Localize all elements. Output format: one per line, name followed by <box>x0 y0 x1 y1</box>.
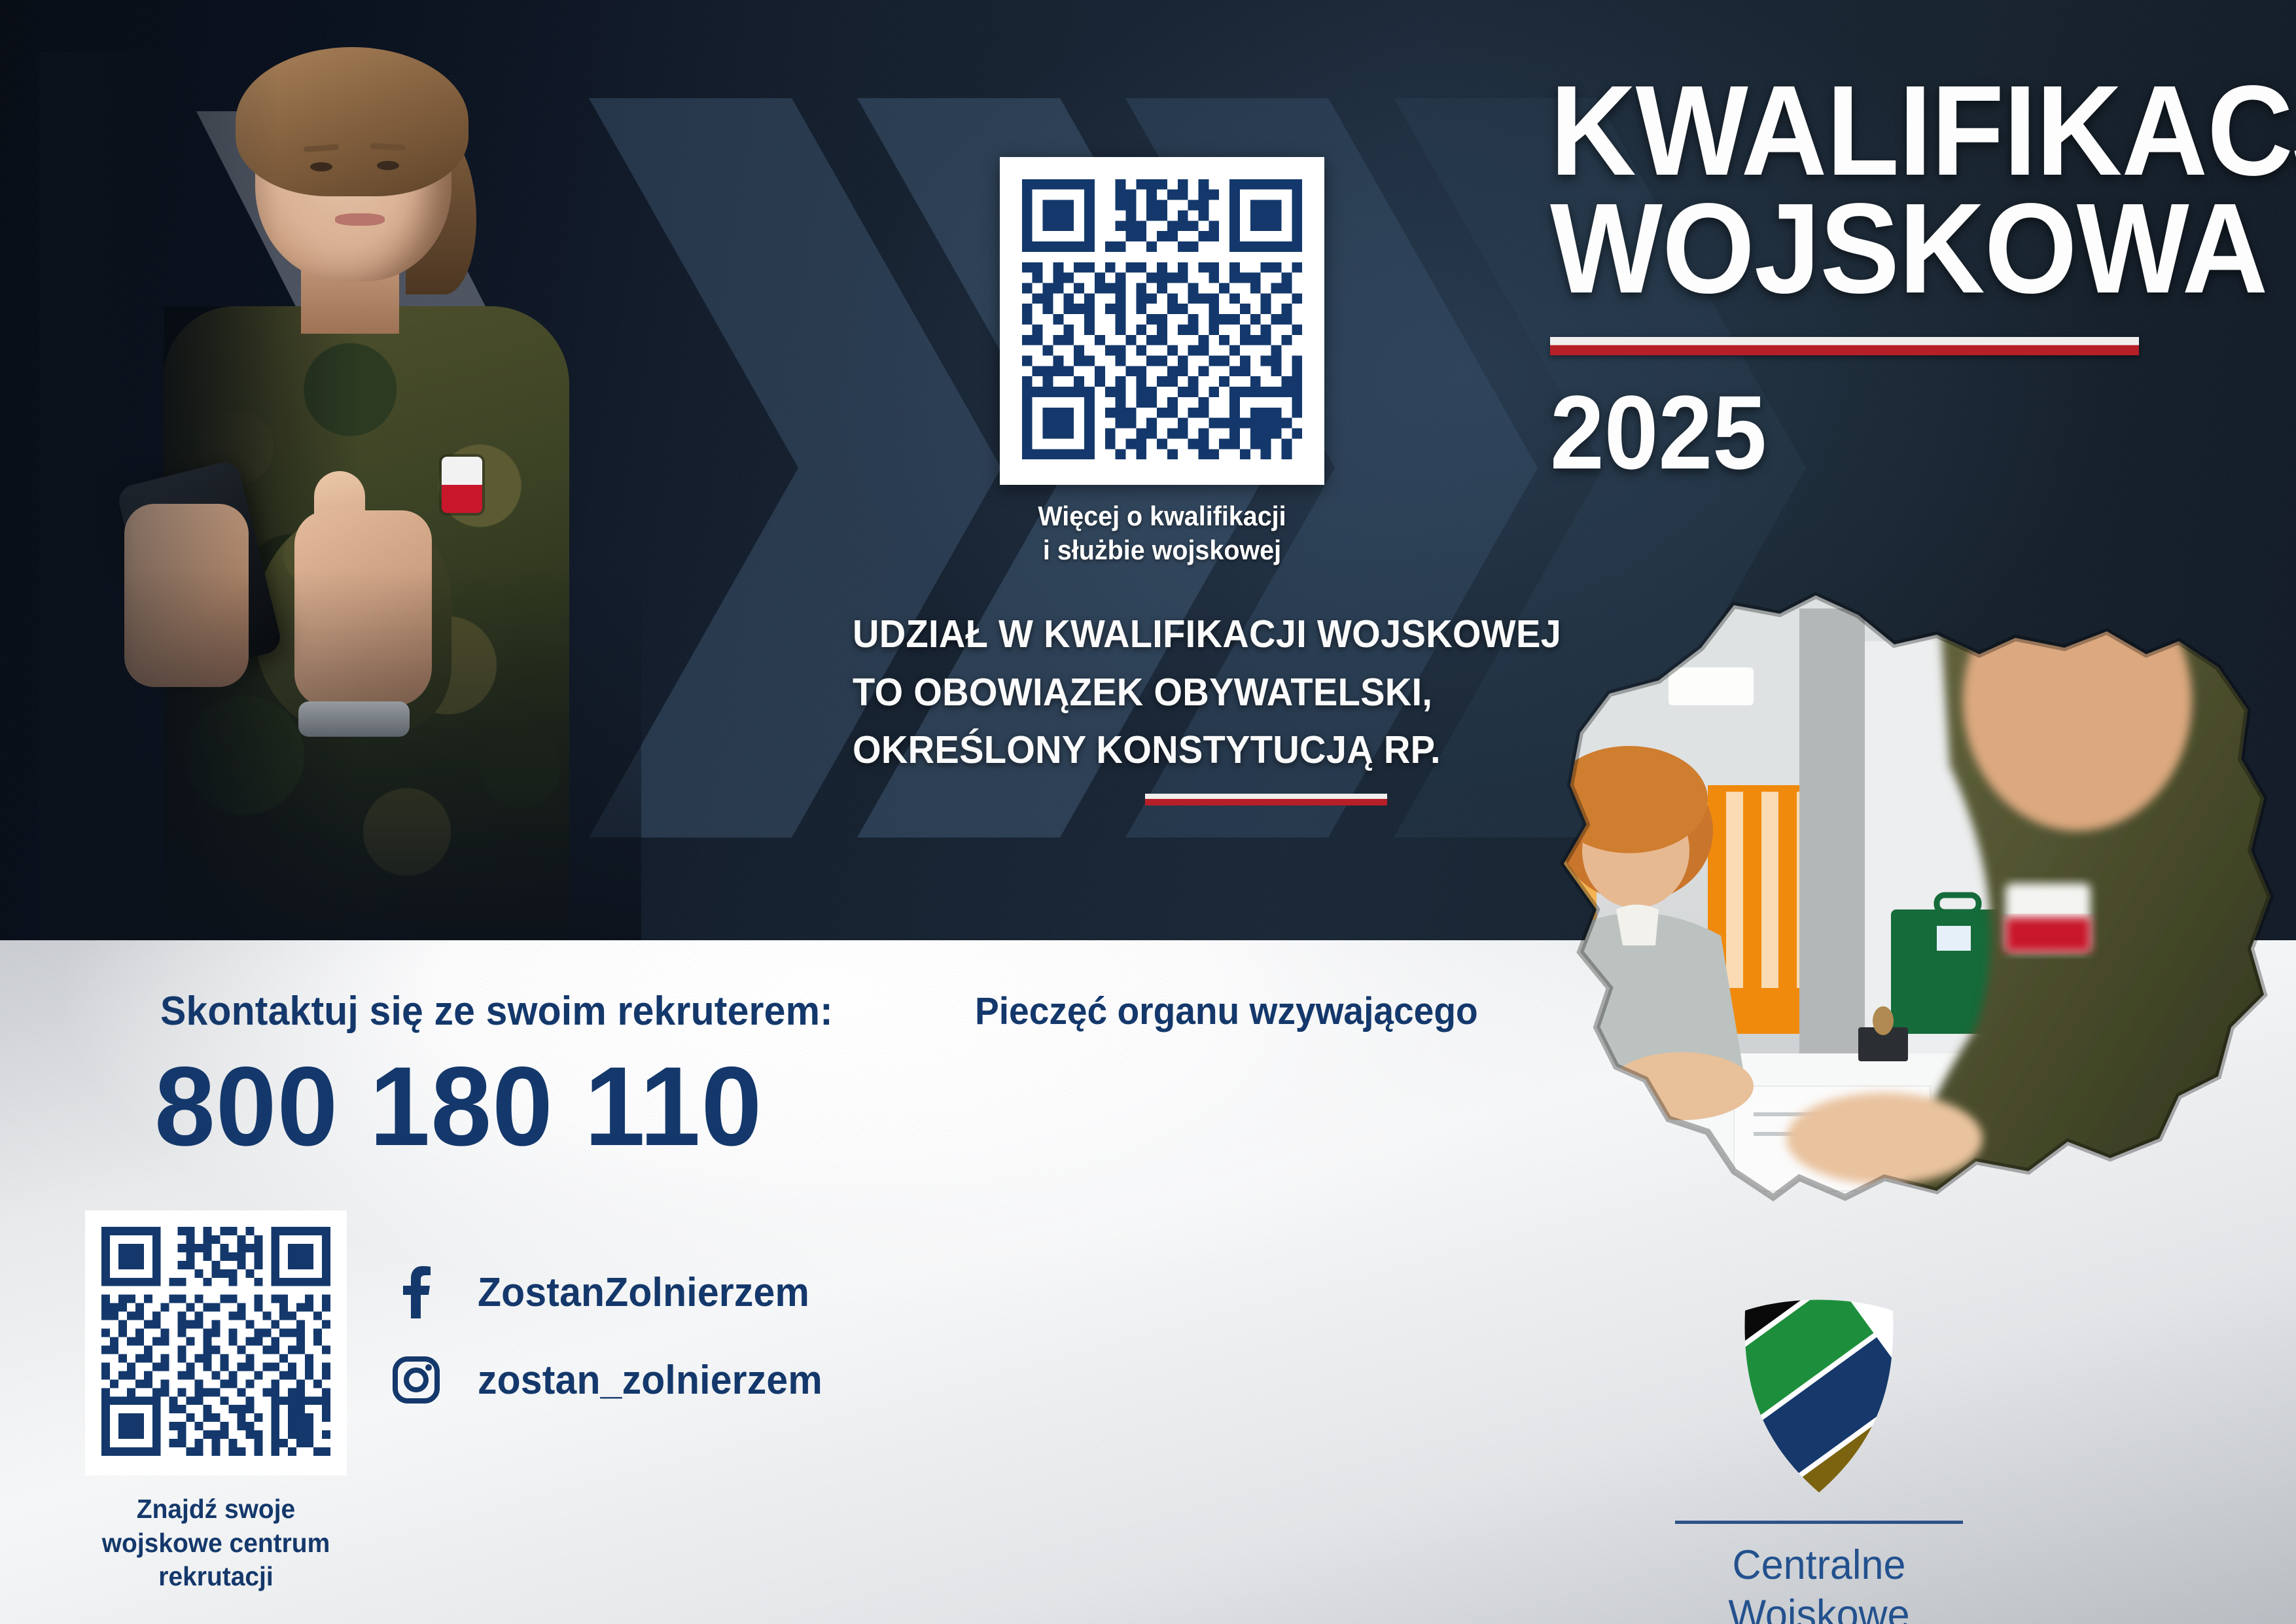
seal-label: Pieczęć organu wzywającego <box>975 989 1478 1033</box>
recruiter-label: Skontaktuj się ze swoim rekruterem: <box>160 988 833 1034</box>
social-links: ZostanZolnierzem zostan_zolnierzem <box>393 1266 841 1441</box>
instagram-icon[interactable] <box>393 1356 440 1403</box>
social-row-facebook[interactable]: ZostanZolnierzem <box>393 1266 841 1318</box>
headline-line-1: KWALIFIKACJA <box>1550 72 2207 190</box>
logo-name-line-1: Centralne Wojskowe <box>1641 1541 1996 1624</box>
slogan-line-3: OKREŚLONY KONSTYTUCJĄ RP. <box>853 721 1387 779</box>
headline-year: 2025 <box>1550 380 2207 485</box>
social-row-instagram[interactable]: zostan_zolnierzem <box>393 1356 841 1403</box>
slogan-line-2: TO OBOWIĄZEK OBYWATELSKI, <box>853 663 1387 722</box>
chevron-decor-gray <box>170 111 589 805</box>
poster-root: KWALIFIKACJA WOJSKOWA 2025 <box>0 0 2296 1624</box>
qr-bottom-caption-line-2: wojskowe centrum <box>92 1527 340 1561</box>
facebook-handle[interactable]: ZostanZolnierzem <box>478 1269 809 1316</box>
cwcr-logo-block: Centralne Wojskowe Centrum Rekrutacji <box>1636 1299 2002 1624</box>
qr-code-icon[interactable] <box>1000 157 1324 485</box>
recruitment-desk-photo <box>1518 569 2296 1243</box>
shield-logo-icon <box>1636 1299 2002 1498</box>
qr-code-icon[interactable] <box>85 1210 347 1475</box>
qr-bottom-caption-line-1: Znajdź swoje <box>92 1492 340 1527</box>
qr-bottom-caption-line-3: rekrutacji <box>92 1560 340 1594</box>
slogan-block: UDZIAŁ W KWALIFIKACJI WOJSKOWEJ TO OBOWI… <box>824 605 1387 809</box>
qr-top-caption-line-1: Więcej o kwalifikacji <box>1010 499 1315 533</box>
qr-bottom-block[interactable]: Znajdź swoje wojskowe centrum rekrutacji <box>85 1210 347 1594</box>
logo-divider-rule <box>1675 1521 1963 1524</box>
uniform-flag-patch <box>442 457 482 513</box>
female-soldier-photo <box>39 52 641 942</box>
facebook-icon[interactable] <box>393 1266 440 1318</box>
qr-top-caption-line-2: i służbie wojskowej <box>1010 533 1315 567</box>
slogan-line-1: UDZIAŁ W KWALIFIKACJI WOJSKOWEJ <box>853 605 1387 663</box>
qr-top-caption: Więcej o kwalifikacji i służbie wojskowe… <box>1010 499 1315 567</box>
polish-flag-bar-small <box>1145 794 1387 805</box>
instagram-handle[interactable]: zostan_zolnierzem <box>478 1357 822 1403</box>
smartphone-prop <box>116 459 284 679</box>
headline-line-2: WOJSKOWA <box>1550 190 2207 308</box>
polish-flag-bar <box>1550 337 2139 355</box>
page-title: KWALIFIKACJA WOJSKOWA 2025 <box>1550 72 2257 485</box>
qr-top-block[interactable]: Więcej o kwalifikacji i służbie wojskowe… <box>1000 157 1324 567</box>
recruiter-phone-number[interactable]: 800 180 110 <box>154 1050 762 1163</box>
qr-bottom-caption: Znajdź swoje wojskowe centrum rekrutacji <box>92 1492 340 1594</box>
logo-name: Centralne Wojskowe Centrum Rekrutacji <box>1641 1541 1996 1624</box>
